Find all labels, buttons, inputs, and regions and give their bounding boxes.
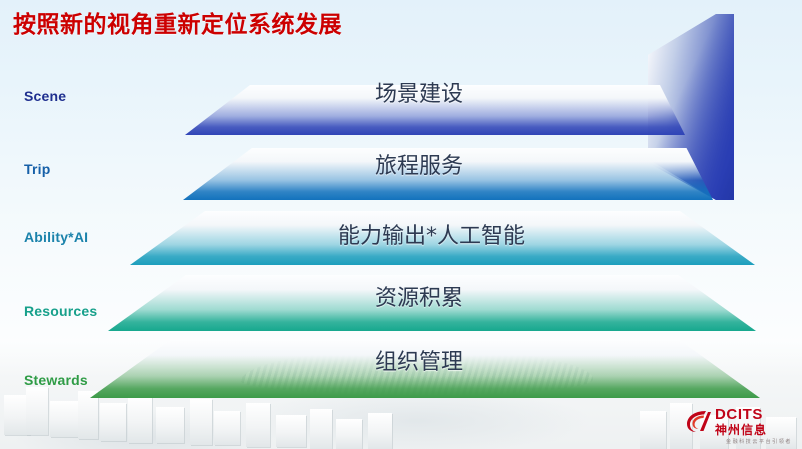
page-title: 按照新的视角重新定位系统发展 (13, 5, 342, 39)
layer-caption-stewards: 组织管理 (375, 344, 463, 376)
dcits-swoosh-icon (684, 407, 712, 435)
dcits-brand-cn: 神州信息 (715, 424, 767, 436)
dcits-wordmark: DCITS 神州信息 (715, 407, 767, 436)
layer-caption-ability-ai: 能力输出*人工智能 (338, 218, 525, 250)
layer-caption-scene: 场景建设 (375, 76, 463, 108)
dcits-logo: DCITS 神州信息 金融科技云平台引领者 (684, 399, 794, 443)
side-label-trip: Trip (24, 161, 50, 177)
dcits-tagline: 金融科技云平台引领者 (726, 438, 792, 445)
slide-canvas: 按照新的视角重新定位系统发展 Scene Trip Ability*AI Res… (0, 0, 802, 449)
layer-caption-trip: 旅程服务 (375, 148, 463, 180)
side-label-resources: Resources (24, 303, 97, 319)
side-label-scene: Scene (24, 88, 66, 104)
dcits-brand-en: DCITS (715, 407, 767, 422)
layer-caption-resources: 资源积累 (375, 280, 463, 312)
side-label-ability-ai: Ability*AI (24, 229, 88, 245)
side-label-stewards: Stewards (24, 372, 88, 388)
